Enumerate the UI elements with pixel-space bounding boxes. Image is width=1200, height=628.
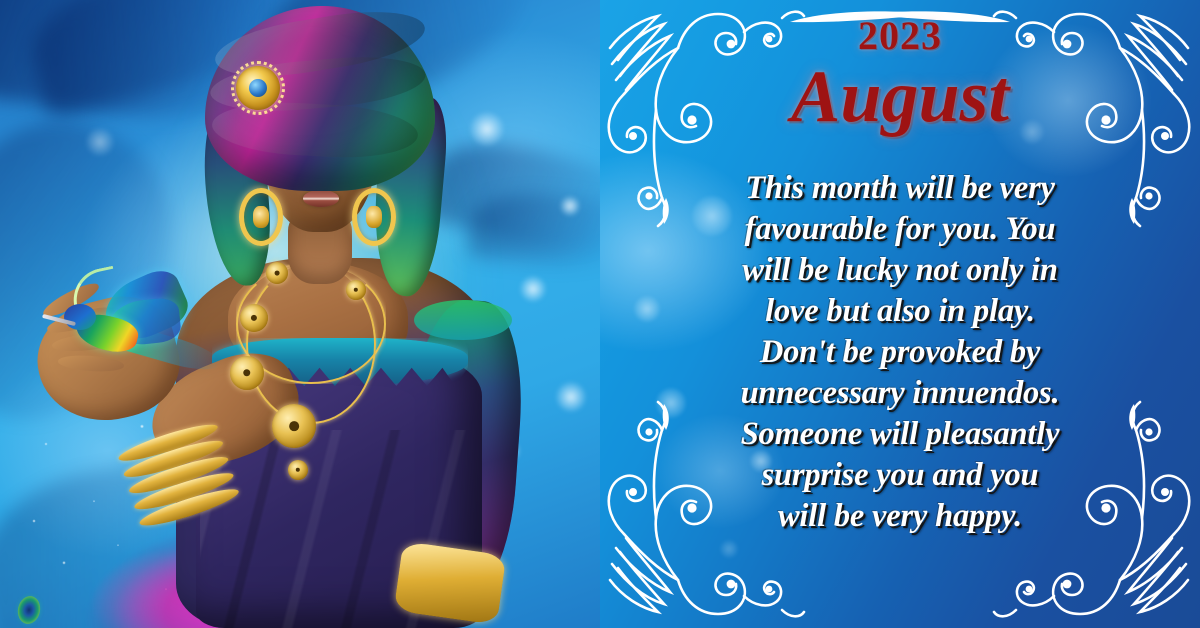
fortune-teller-figure	[0, 0, 600, 628]
forecast-line: This month will be very	[678, 168, 1122, 209]
forecast-text: This month will be very favourable for y…	[678, 168, 1122, 537]
necklace-disc	[230, 356, 264, 390]
bokeh-dot	[634, 296, 660, 322]
necklace-disc	[266, 262, 288, 284]
necklace-disc	[288, 460, 308, 480]
necklace-disc	[240, 304, 268, 332]
gold-hoop-earring	[352, 188, 396, 246]
forecast-line: love but also in play.	[678, 291, 1122, 332]
forecast-line: will be lucky not only in	[678, 250, 1122, 291]
necklace-disc	[346, 280, 366, 300]
forecast-line: Don't be provoked by	[678, 332, 1122, 373]
peacock-eye-icon	[15, 594, 42, 626]
forecast-line: surprise you and you	[678, 455, 1122, 496]
gold-cuff	[394, 541, 507, 625]
illustration-panel	[0, 0, 600, 628]
sleeve-ruffle	[414, 300, 512, 340]
month-title: August	[600, 60, 1200, 135]
gold-disc-necklace	[228, 264, 408, 494]
horoscope-banner: 2023 August This month will be very favo…	[0, 0, 1200, 628]
year-title: 2023	[600, 16, 1200, 56]
forecast-line: favourable for you. You	[678, 209, 1122, 250]
text-panel: 2023 August This month will be very favo…	[600, 0, 1200, 628]
forecast-line: will be very happy.	[678, 496, 1122, 537]
turban-brooch-icon	[236, 66, 280, 110]
lips	[303, 190, 339, 207]
hummingbird-icon	[48, 276, 188, 386]
gold-hoop-earring	[239, 188, 283, 246]
necklace-disc	[272, 404, 316, 448]
title-block: 2023 August	[600, 16, 1200, 135]
forecast-line: unnecessary innuendos.	[678, 373, 1122, 414]
forecast-line: Someone will pleasantly	[678, 414, 1122, 455]
bird-head	[64, 304, 96, 330]
